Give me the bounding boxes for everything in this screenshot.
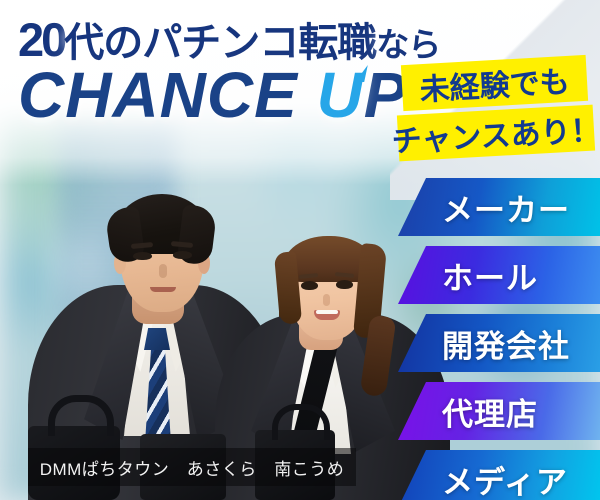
category-button-media[interactable]: メディア xyxy=(398,450,600,500)
category-label-maker: メーカー xyxy=(442,185,570,230)
headline: 20代のパチンコ転職なら xyxy=(18,16,440,63)
category-list: メーカー ホール 開発会社 代理店 メディア xyxy=(398,178,600,500)
category-button-agency[interactable]: 代理店 xyxy=(398,382,600,440)
logo-chance-up: CHANCE UP xyxy=(18,63,407,127)
category-label-media: メディア xyxy=(442,457,568,500)
woman-eye-right xyxy=(336,280,353,289)
man-mouth xyxy=(150,287,176,292)
woman-teeth xyxy=(316,310,338,314)
category-label-development-company: 開発会社 xyxy=(442,321,570,366)
caption-bar: DMMぱちタウン あさくら 南こうめ xyxy=(28,448,356,486)
woman-eye-left xyxy=(301,281,318,290)
woman-nose xyxy=(323,294,330,306)
category-label-agency: 代理店 xyxy=(442,389,538,434)
man-eye-right xyxy=(173,251,192,259)
headline-tail: なら xyxy=(376,26,440,63)
badge-no-experience-label: 未経験でも xyxy=(418,57,570,109)
caption-text: DMMぱちタウン あさくら 南こうめ xyxy=(40,455,345,480)
briefcase-left-handle xyxy=(48,395,114,436)
man-tie-knot xyxy=(144,328,170,350)
man-nose xyxy=(159,264,167,278)
category-label-hall: ホール xyxy=(442,253,538,298)
chance-up-banner: 20代のパチンコ転職なら CHANCE UP 未経験でも チャンスあり！ メーカ… xyxy=(0,0,600,500)
category-button-hall[interactable]: ホール xyxy=(398,246,600,304)
category-button-maker[interactable]: メーカー xyxy=(398,178,600,236)
logo-letter-u-arrow: U xyxy=(317,63,364,127)
category-button-development-company[interactable]: 開発会社 xyxy=(398,314,600,372)
briefcase-right-handle xyxy=(272,404,330,440)
logo-word-chance: CHANCE xyxy=(18,59,298,131)
man-eye-left xyxy=(133,252,152,260)
